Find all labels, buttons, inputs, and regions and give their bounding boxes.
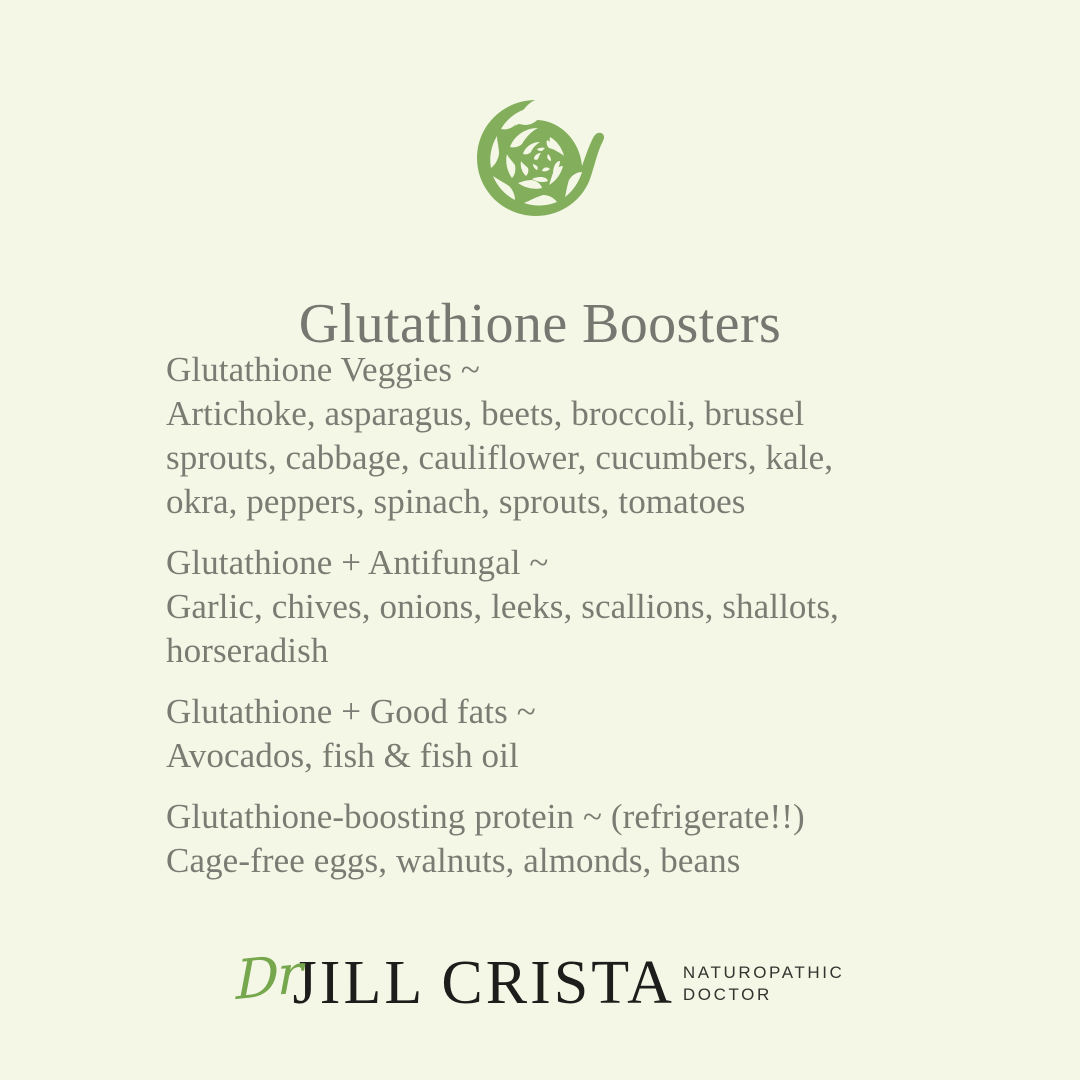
section-items: Cage-free eggs, walnuts, almonds, beans (166, 839, 996, 883)
content-list: Glutathione Veggies ~ Artichoke, asparag… (166, 348, 996, 883)
section-items: Garlic, chives, onions, leeks, scallions… (166, 585, 996, 673)
infographic-card: Glutathione Boosters Glutathione Veggies… (0, 0, 1080, 1080)
section-items: Artichoke, asparagus, beets, broccoli, b… (166, 392, 996, 524)
section-good-fats: Glutathione + Good fats ~ Avocados, fish… (166, 690, 996, 778)
section-items: Avocados, fish & fish oil (166, 734, 996, 778)
section-heading: Glutathione Veggies ~ (166, 348, 996, 392)
brand-prefix-script: Dr (236, 947, 301, 1008)
page-title: Glutathione Boosters (0, 294, 1080, 356)
section-veggies: Glutathione Veggies ~ Artichoke, asparag… (166, 348, 996, 524)
brand-credential-line1: NATUROPATHIC (683, 962, 845, 984)
fern-fiddlehead-spiral-icon (472, 98, 608, 218)
brand-name: JILL CRISTA (293, 952, 675, 1014)
brand-credential: NATUROPATHIC DOCTOR (683, 962, 845, 1006)
section-heading: Glutathione + Good fats ~ (166, 690, 996, 734)
section-heading: Glutathione + Antifungal ~ (166, 541, 996, 585)
section-protein: Glutathione-boosting protein ~ (refriger… (166, 795, 996, 883)
section-antifungal: Glutathione + Antifungal ~ Garlic, chive… (166, 541, 996, 673)
brand-footer: Dr JILL CRISTA NATUROPATHIC DOCTOR (0, 952, 1080, 1012)
brand-credential-line2: DOCTOR (683, 984, 845, 1006)
section-heading: Glutathione-boosting protein ~ (refriger… (166, 795, 996, 839)
brand-logo (0, 98, 1080, 218)
